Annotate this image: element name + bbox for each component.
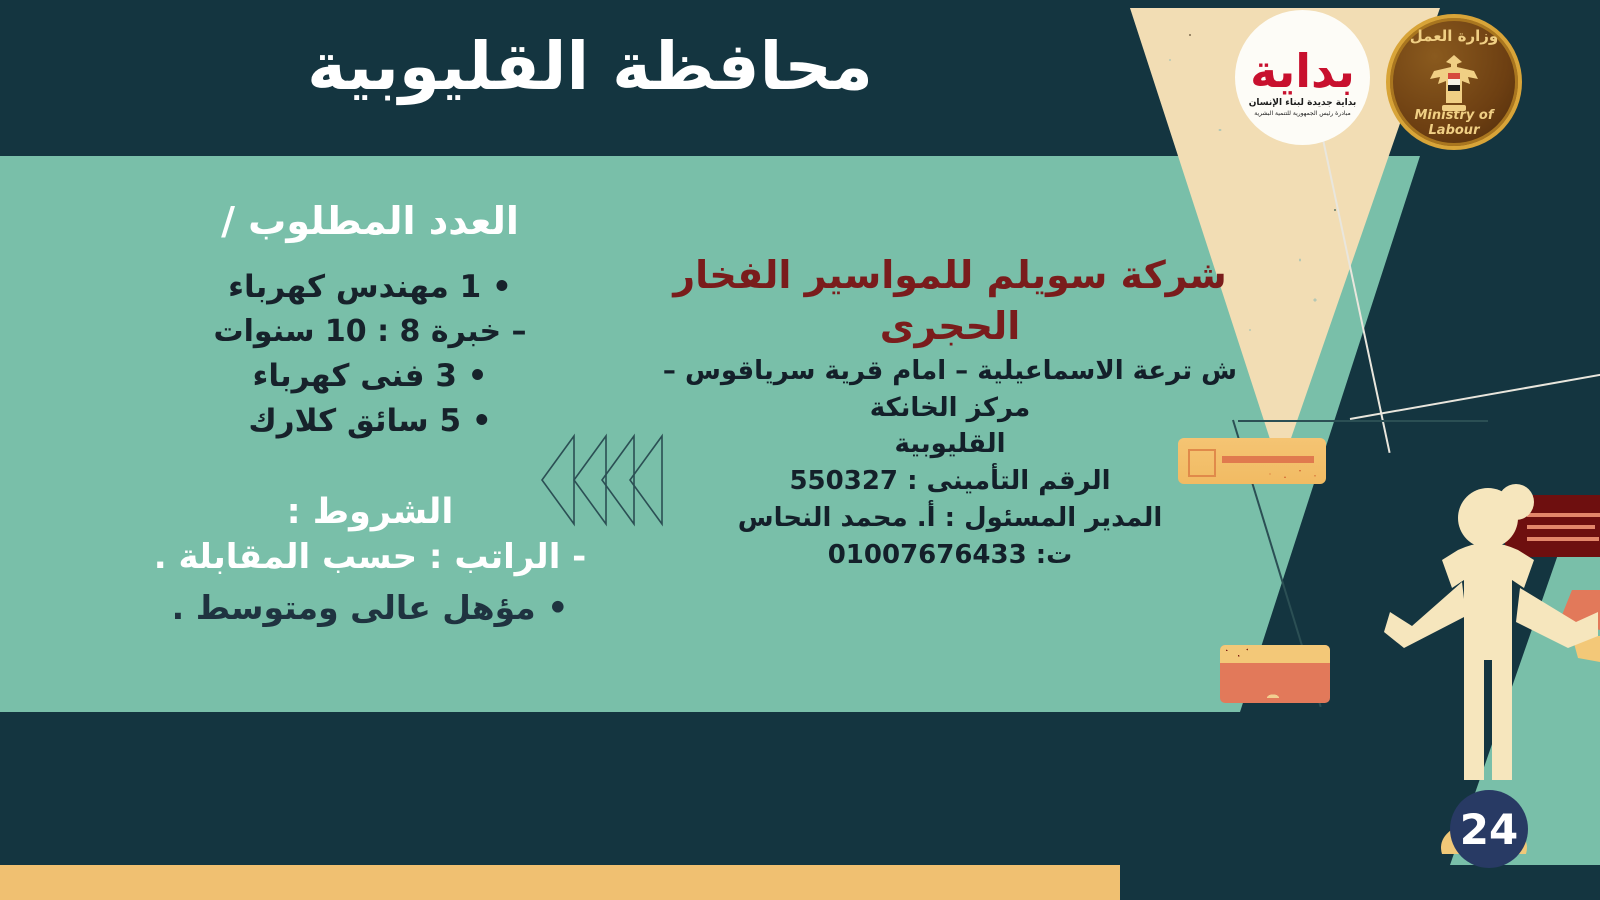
bedaya-tagline: بداية جديدة لبناء الإنسان [1249,98,1357,108]
requirements-panel: العدد المطلوب / • 1 مهندس كهرباء – خبرة … [70,196,670,632]
ministry-of-labour-seal: وزارة العمل Ministry of Labour [1386,14,1522,150]
company-panel: شركة سويلم للمواسير الفخار الحجرى ش ترعة… [660,250,1240,574]
seal-arabic-text: وزارة العمل [1390,27,1518,45]
company-address-line-2: مركز الخانكة [660,390,1240,427]
slide-canvas: محافظة القليوبية بداية بداية جديدة لبناء… [0,0,1600,900]
company-insurance-number: الرقم التأمينى : 550327 [660,463,1240,500]
requirement-item: • 1 مهندس كهرباء [70,265,670,310]
requirement-item: – خبرة 8 : 10 سنوات [70,310,670,354]
page-number-badge: 24 [1450,790,1528,868]
conditions-qualification: • مؤهل عالى ومتوسط . [70,583,670,633]
company-phone: ت: 01007676433 [660,537,1240,574]
bedaya-subtitle: مبادرة رئيس الجمهورية للتنمية البشرية [1254,110,1351,117]
card-texture [1264,466,1324,482]
art-line-dark-horizontal [1238,420,1488,422]
bedaya-logo: بداية بداية جديدة لبناء الإنسان مبادرة ر… [1235,10,1370,145]
company-address-line-1: ش ترعة الاسماعيلية – امام قرية سرياقوس – [660,353,1240,390]
conditions-salary: - الراتب : حسب المقابلة . [70,532,670,583]
page-title: محافظة القليوبية [0,26,1180,109]
bedaya-wordmark: بداية [1250,52,1355,91]
seal-english-text: Ministry of Labour [1390,108,1518,138]
card-wave-texture [1228,682,1318,698]
chevron-arrows-decoration [540,430,670,530]
requirements-heading: العدد المطلوب / [70,196,670,247]
eagle-icon [1426,53,1482,115]
company-name: شركة سويلم للمواسير الفخار الحجرى [660,250,1240,353]
company-address-line-3: القليوبية [660,426,1240,463]
requirement-item: • 3 فنى كهرباء [70,354,670,399]
company-manager: المدير المسئول : أ. محمد النحاس [660,500,1240,537]
card-dot-texture [1220,645,1254,663]
orange-card-bottom [1220,645,1330,703]
